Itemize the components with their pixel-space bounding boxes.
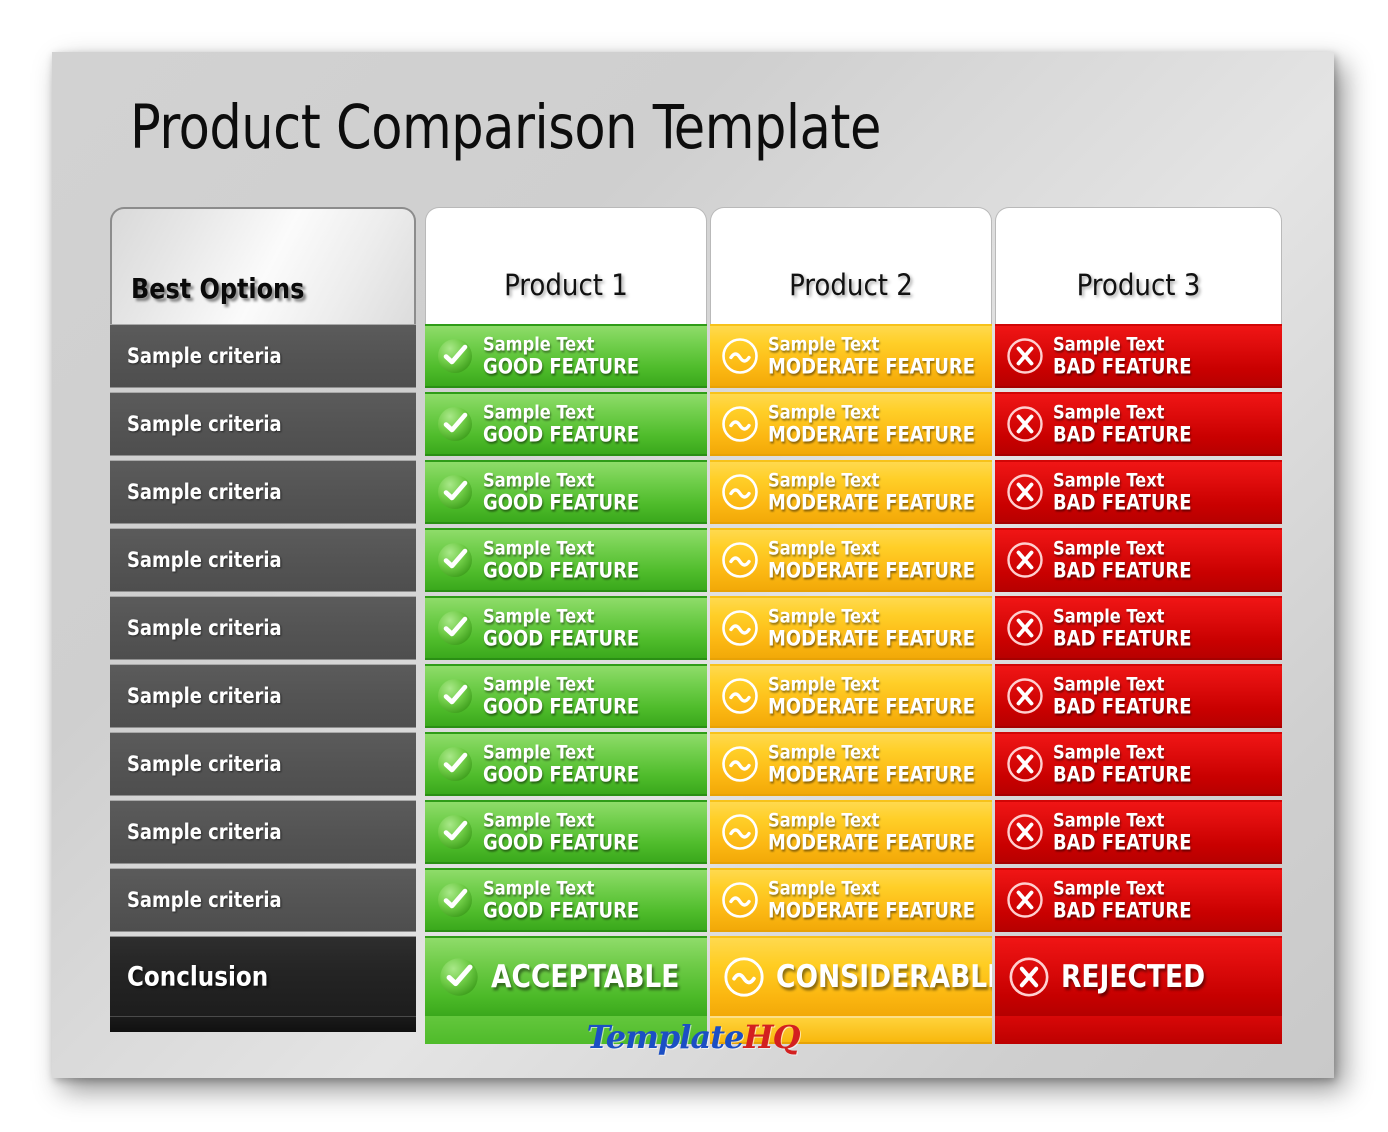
cell-feature-text: BAD FEATURE [1053, 559, 1191, 582]
cell-text-block: Sample TextMODERATE FEATURE [768, 538, 986, 581]
cell-feature-text: GOOD FEATURE [483, 627, 639, 650]
table-header-product-3[interactable]: Product 3 [995, 207, 1282, 324]
cell-sample-text: Sample Text [1053, 538, 1191, 559]
cell-feature-text: MODERATE FEATURE [768, 763, 975, 786]
comparison-cell[interactable]: Sample TextBAD FEATURE [995, 800, 1282, 864]
cell-text-block: Sample TextGOOD FEATURE [483, 674, 647, 717]
table-row[interactable]: Sample criteria [110, 868, 416, 932]
cell-feature-text: GOOD FEATURE [483, 899, 639, 922]
cell-text-block: Sample TextMODERATE FEATURE [768, 402, 986, 445]
cell-feature-text: MODERATE FEATURE [768, 491, 975, 514]
cell-sample-text: Sample Text [768, 674, 975, 695]
product-3-rows: Sample TextBAD FEATURESample TextBAD FEA… [995, 324, 1282, 1044]
cell-text-block: Sample TextMODERATE FEATURE [768, 878, 986, 921]
cell-feature-text: MODERATE FEATURE [768, 559, 975, 582]
cell-sample-text: Sample Text [1053, 674, 1191, 695]
cell-sample-text: Sample Text [483, 810, 639, 831]
conclusion-cell[interactable]: REJECTED [995, 936, 1282, 1016]
tilde-circle-icon [720, 608, 760, 648]
tilde-circle-icon [720, 472, 760, 512]
comparison-cell[interactable]: Sample TextMODERATE FEATURE [710, 392, 992, 456]
cell-sample-text: Sample Text [768, 402, 975, 423]
check-circle-icon [435, 404, 475, 444]
cell-feature-text: GOOD FEATURE [483, 559, 639, 582]
cell-text-block: Sample TextMODERATE FEATURE [768, 334, 986, 377]
cell-feature-text: GOOD FEATURE [483, 491, 639, 514]
tilde-circle-icon [720, 540, 760, 580]
table-row[interactable]: Sample criteria [110, 460, 416, 524]
check-circle-icon [435, 744, 475, 784]
comparison-cell[interactable]: Sample TextGOOD FEATURE [425, 732, 707, 796]
cell-sample-text: Sample Text [768, 470, 975, 491]
cell-text-block: Sample TextMODERATE FEATURE [768, 742, 986, 785]
cell-sample-text: Sample Text [483, 878, 639, 899]
criteria-label: Sample criteria [127, 820, 282, 844]
cell-sample-text: Sample Text [483, 334, 639, 355]
criteria-label: Sample criteria [127, 752, 282, 776]
x-circle-icon [1005, 880, 1045, 920]
comparison-cell[interactable]: Sample TextBAD FEATURE [995, 868, 1282, 932]
cell-text-block: Sample TextGOOD FEATURE [483, 470, 647, 513]
cell-sample-text: Sample Text [768, 878, 975, 899]
check-circle-icon [435, 676, 475, 716]
cell-feature-text: BAD FEATURE [1053, 763, 1191, 786]
comparison-cell[interactable]: Sample TextMODERATE FEATURE [710, 800, 992, 864]
cell-sample-text: Sample Text [1053, 470, 1191, 491]
table-row[interactable]: Sample criteria [110, 800, 416, 864]
table-row[interactable]: Sample criteria [110, 392, 416, 456]
cell-text-block: Sample TextGOOD FEATURE [483, 606, 647, 649]
cell-sample-text: Sample Text [1053, 334, 1191, 355]
cell-feature-text: GOOD FEATURE [483, 423, 639, 446]
product-2-rows: Sample TextMODERATE FEATURESample TextMO… [710, 324, 992, 1044]
comparison-cell[interactable]: Sample TextGOOD FEATURE [425, 392, 707, 456]
comparison-cell[interactable]: Sample TextGOOD FEATURE [425, 460, 707, 524]
table-row[interactable]: Sample criteria [110, 528, 416, 592]
x-circle-icon [1005, 812, 1045, 852]
cell-sample-text: Sample Text [483, 402, 639, 423]
tilde-circle-icon [720, 336, 760, 376]
conclusion-cell[interactable]: ACCEPTABLE [425, 936, 707, 1016]
tilde-circle-icon [720, 404, 760, 444]
cell-text-block: Sample TextGOOD FEATURE [483, 538, 647, 581]
cell-feature-text: MODERATE FEATURE [768, 355, 975, 378]
page-title: Product Comparison Template [130, 95, 881, 161]
cell-feature-text: BAD FEATURE [1053, 423, 1191, 446]
x-circle-icon [1005, 472, 1045, 512]
comparison-cell[interactable]: Sample TextMODERATE FEATURE [710, 460, 992, 524]
cell-text-block: Sample TextMODERATE FEATURE [768, 674, 986, 717]
cell-sample-text: Sample Text [1053, 402, 1191, 423]
cell-sample-text: Sample Text [1053, 878, 1191, 899]
cell-text-block: Sample TextMODERATE FEATURE [768, 606, 986, 649]
cell-text-block: Sample TextBAD FEATURE [1053, 402, 1199, 445]
x-circle-icon [1005, 404, 1045, 444]
table-row[interactable]: Sample criteria [110, 732, 416, 796]
tilde-circle-icon [720, 880, 760, 920]
comparison-cell[interactable]: Sample TextBAD FEATURE [995, 392, 1282, 456]
criteria-label: Sample criteria [127, 480, 282, 504]
tilde-circle-icon [720, 676, 760, 716]
cell-sample-text: Sample Text [483, 742, 639, 763]
comparison-cell[interactable]: Sample TextGOOD FEATURE [425, 528, 707, 592]
check-circle-icon [435, 336, 475, 376]
check-circle-icon [435, 812, 475, 852]
cell-sample-text: Sample Text [1053, 742, 1191, 763]
product-1-rows: Sample TextGOOD FEATURESample TextGOOD F… [425, 324, 707, 1044]
comparison-cell[interactable]: Sample TextBAD FEATURE [995, 596, 1282, 660]
screenshot-canvas: Product Comparison Template Best Options… [0, 0, 1388, 1132]
templatehq-logo: TemplateHQ [52, 1018, 1334, 1056]
cell-feature-text: BAD FEATURE [1053, 899, 1191, 922]
conclusion-value: ACCEPTABLE [491, 959, 679, 995]
conclusion-row-label[interactable]: Conclusion [110, 936, 416, 1016]
cell-text-block: Sample TextMODERATE FEATURE [768, 810, 986, 853]
check-circle-icon [435, 608, 475, 648]
cell-text-block: Sample TextGOOD FEATURE [483, 742, 647, 785]
cell-feature-text: GOOD FEATURE [483, 763, 639, 786]
cell-text-block: Sample TextGOOD FEATURE [483, 810, 647, 853]
cell-sample-text: Sample Text [768, 538, 975, 559]
presentation-slide: Product Comparison Template Best Options… [52, 52, 1334, 1078]
comparison-cell[interactable]: Sample TextGOOD FEATURE [425, 324, 707, 388]
check-circle-icon [435, 880, 475, 920]
table-header-label: Product 2 [711, 268, 991, 302]
conclusion-value: REJECTED [1061, 959, 1205, 995]
cell-text-block: Sample TextBAD FEATURE [1053, 606, 1199, 649]
cell-feature-text: GOOD FEATURE [483, 695, 639, 718]
x-circle-icon [1005, 744, 1045, 784]
check-circle-icon [437, 955, 481, 999]
comparison-cell[interactable]: Sample TextBAD FEATURE [995, 324, 1282, 388]
cell-feature-text: MODERATE FEATURE [768, 695, 975, 718]
criteria-label: Sample criteria [127, 344, 282, 368]
cell-text-block: Sample TextGOOD FEATURE [483, 402, 647, 445]
x-circle-icon [1005, 608, 1045, 648]
tilde-circle-icon [722, 955, 766, 999]
cell-text-block: Sample TextBAD FEATURE [1053, 470, 1199, 513]
comparison-cell[interactable]: Sample TextMODERATE FEATURE [710, 732, 992, 796]
criteria-rows: Sample criteriaSample criteriaSample cri… [110, 324, 421, 1032]
comparison-cell[interactable]: Sample TextGOOD FEATURE [425, 868, 707, 932]
cell-feature-text: BAD FEATURE [1053, 831, 1191, 854]
cell-sample-text: Sample Text [1053, 606, 1191, 627]
x-circle-icon [1005, 540, 1045, 580]
comparison-cell[interactable]: Sample TextBAD FEATURE [995, 732, 1282, 796]
cell-sample-text: Sample Text [483, 606, 639, 627]
table-row[interactable]: Sample criteria [110, 324, 416, 388]
table-header-label: Product 1 [426, 268, 706, 302]
table-header-product-2[interactable]: Product 2 [710, 207, 992, 324]
table-header-label: Product 3 [996, 268, 1281, 302]
cell-text-block: Sample TextBAD FEATURE [1053, 538, 1199, 581]
cell-feature-text: GOOD FEATURE [483, 355, 639, 378]
cell-feature-text: BAD FEATURE [1053, 627, 1191, 650]
cell-text-block: Sample TextGOOD FEATURE [483, 878, 647, 921]
tilde-circle-icon [720, 744, 760, 784]
cell-feature-text: MODERATE FEATURE [768, 899, 975, 922]
criteria-label: Sample criteria [127, 412, 282, 436]
cell-text-block: Sample TextGOOD FEATURE [483, 334, 647, 377]
table-header-best-options[interactable]: Best Options [110, 207, 416, 324]
cell-feature-text: MODERATE FEATURE [768, 627, 975, 650]
x-circle-icon [1007, 955, 1051, 999]
x-circle-icon [1005, 336, 1045, 376]
cell-text-block: Sample TextBAD FEATURE [1053, 810, 1199, 853]
table-header-label: Best Options [131, 272, 304, 305]
check-circle-icon [435, 540, 475, 580]
table-row[interactable]: Sample criteria [110, 596, 416, 660]
cell-sample-text: Sample Text [1053, 810, 1191, 831]
comparison-table: Best Options Product 1 Product 2 Product… [110, 207, 1282, 1037]
cell-feature-text: MODERATE FEATURE [768, 831, 975, 854]
comparison-cell[interactable]: Sample TextGOOD FEATURE [425, 800, 707, 864]
check-circle-icon [435, 472, 475, 512]
comparison-cell[interactable]: Sample TextGOOD FEATURE [425, 596, 707, 660]
x-circle-icon [1005, 676, 1045, 716]
cell-text-block: Sample TextBAD FEATURE [1053, 334, 1199, 377]
cell-text-block: Sample TextMODERATE FEATURE [768, 470, 986, 513]
comparison-cell[interactable]: Sample TextMODERATE FEATURE [710, 596, 992, 660]
cell-text-block: Sample TextBAD FEATURE [1053, 742, 1199, 785]
criteria-label: Sample criteria [127, 684, 282, 708]
cell-feature-text: MODERATE FEATURE [768, 423, 975, 446]
logo-text-hq: HQ [743, 1018, 799, 1056]
cell-sample-text: Sample Text [768, 742, 975, 763]
conclusion-label: Conclusion [127, 961, 268, 992]
cell-feature-text: GOOD FEATURE [483, 831, 639, 854]
comparison-cell[interactable]: Sample TextGOOD FEATURE [425, 664, 707, 728]
cell-sample-text: Sample Text [768, 606, 975, 627]
cell-sample-text: Sample Text [483, 470, 639, 491]
conclusion-cell[interactable]: CONSIDERABLE [710, 936, 992, 1016]
cell-sample-text: Sample Text [483, 674, 639, 695]
cell-sample-text: Sample Text [768, 810, 975, 831]
cell-feature-text: BAD FEATURE [1053, 491, 1191, 514]
comparison-cell[interactable]: Sample TextMODERATE FEATURE [710, 664, 992, 728]
logo-text-template: Template [587, 1018, 744, 1056]
comparison-cell[interactable]: Sample TextBAD FEATURE [995, 528, 1282, 592]
criteria-label: Sample criteria [127, 548, 282, 572]
cell-text-block: Sample TextBAD FEATURE [1053, 674, 1199, 717]
comparison-cell[interactable]: Sample TextMODERATE FEATURE [710, 868, 992, 932]
criteria-label: Sample criteria [127, 616, 282, 640]
comparison-cell[interactable]: Sample TextBAD FEATURE [995, 664, 1282, 728]
table-header-product-1[interactable]: Product 1 [425, 207, 707, 324]
tilde-circle-icon [720, 812, 760, 852]
cell-sample-text: Sample Text [483, 538, 639, 559]
comparison-cell[interactable]: Sample TextMODERATE FEATURE [710, 324, 992, 388]
cell-text-block: Sample TextBAD FEATURE [1053, 878, 1199, 921]
conclusion-value: CONSIDERABLE [776, 959, 992, 995]
cell-feature-text: BAD FEATURE [1053, 355, 1191, 378]
comparison-cell[interactable]: Sample TextBAD FEATURE [995, 460, 1282, 524]
table-row[interactable]: Sample criteria [110, 664, 416, 728]
cell-feature-text: BAD FEATURE [1053, 695, 1191, 718]
criteria-label: Sample criteria [127, 888, 282, 912]
comparison-cell[interactable]: Sample TextMODERATE FEATURE [710, 528, 992, 592]
cell-sample-text: Sample Text [768, 334, 975, 355]
